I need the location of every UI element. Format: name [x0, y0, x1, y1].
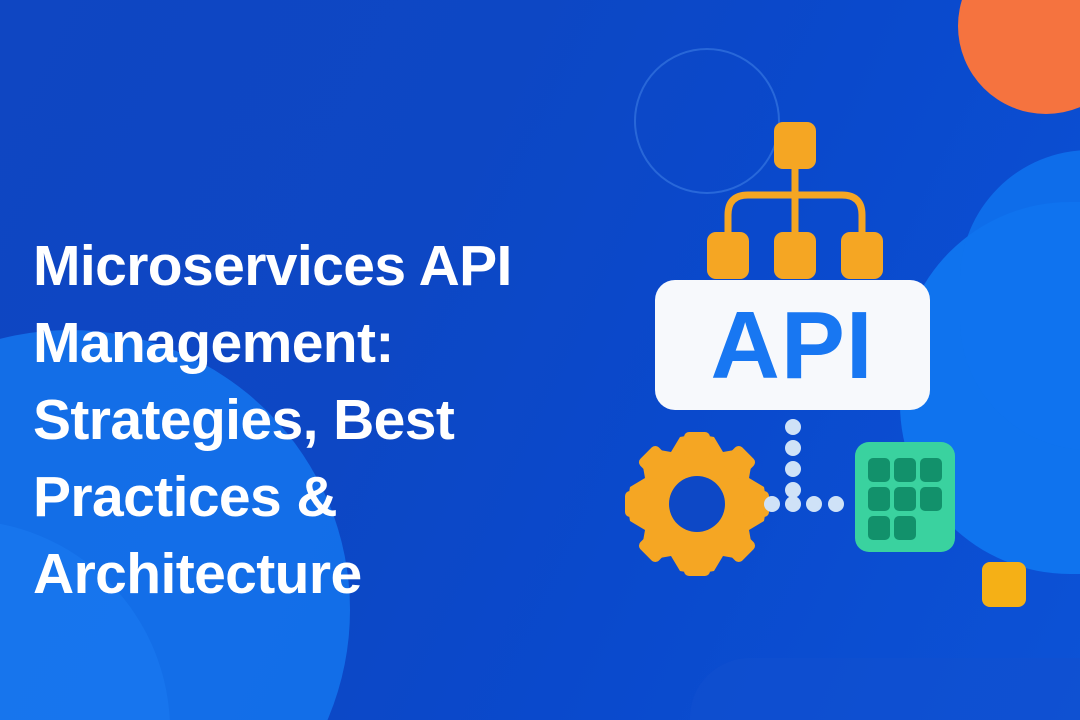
- api-management-illustration: API: [600, 90, 1020, 610]
- gear-icon: [625, 432, 769, 576]
- tree-node-child-2: [774, 232, 816, 279]
- tree-node-parent: [774, 122, 816, 169]
- grid-cell: [920, 487, 942, 511]
- grid-cell: [868, 458, 890, 482]
- microservices-tree-icon: [707, 122, 883, 279]
- tree-node-child-1: [707, 232, 749, 279]
- tree-node-child-3: [841, 232, 883, 279]
- page-title: Microservices API Management: Strategies…: [33, 228, 573, 613]
- hero-banner: Microservices API Management: Strategies…: [0, 0, 1080, 720]
- api-card-label: API: [710, 292, 873, 399]
- api-card: API: [655, 280, 930, 410]
- dotted-connector-icon: [764, 419, 844, 512]
- grid-cell: [894, 516, 916, 540]
- grid-cell: [920, 458, 942, 482]
- grid-cell: [868, 516, 890, 540]
- grid-cell: [894, 487, 916, 511]
- services-grid-icon: [855, 442, 955, 552]
- dark-blue-rounded-rect-bottom-right: [690, 658, 1080, 720]
- grid-cell: [894, 458, 916, 482]
- grid-cell: [868, 487, 890, 511]
